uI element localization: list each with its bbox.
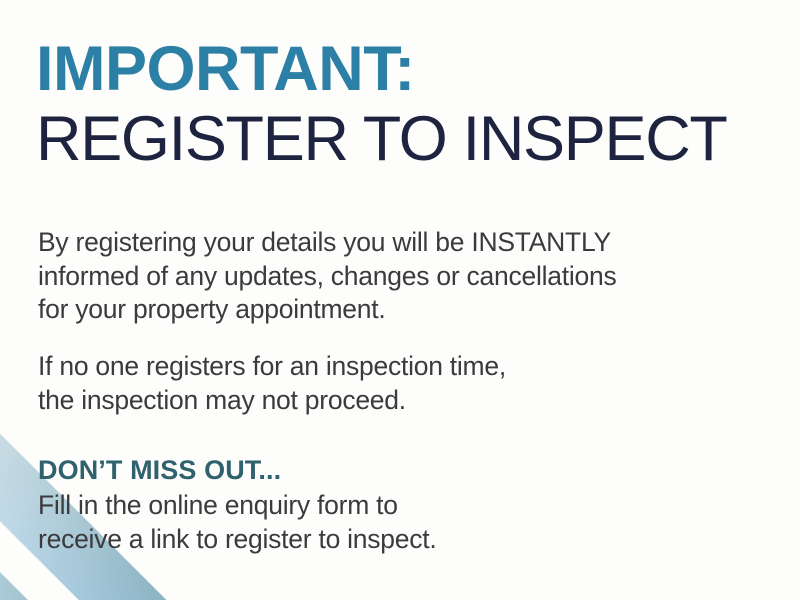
paragraph-line: the inspection may not proceed. [38, 384, 678, 418]
headline-primary: IMPORTANT: [36, 38, 727, 101]
cta-line: receive a link to register to inspect. [38, 523, 678, 557]
paragraph-line: If no one registers for an inspection ti… [38, 350, 678, 384]
cta-line: Fill in the online enquiry form to [38, 489, 678, 523]
paragraph-line: informed of any updates, changes or canc… [38, 260, 678, 294]
banner-content: IMPORTANT: REGISTER TO INSPECT By regist… [36, 0, 726, 600]
paragraph-line: for your property appointment. [38, 293, 678, 327]
call-to-action-block: DON’T MISS OUT... Fill in the online enq… [38, 455, 678, 556]
headline-secondary: REGISTER TO INSPECT [36, 107, 727, 171]
headline-block: IMPORTANT: REGISTER TO INSPECT [36, 38, 727, 171]
cta-heading: DON’T MISS OUT... [38, 455, 678, 486]
paragraph-registration-benefit: By registering your details you will be … [38, 226, 678, 327]
paragraph-line: By registering your details you will be … [38, 226, 678, 260]
paragraph-no-registration-warning: If no one registers for an inspection ti… [38, 350, 678, 417]
inspection-banner: IMPORTANT: REGISTER TO INSPECT By regist… [0, 0, 800, 600]
